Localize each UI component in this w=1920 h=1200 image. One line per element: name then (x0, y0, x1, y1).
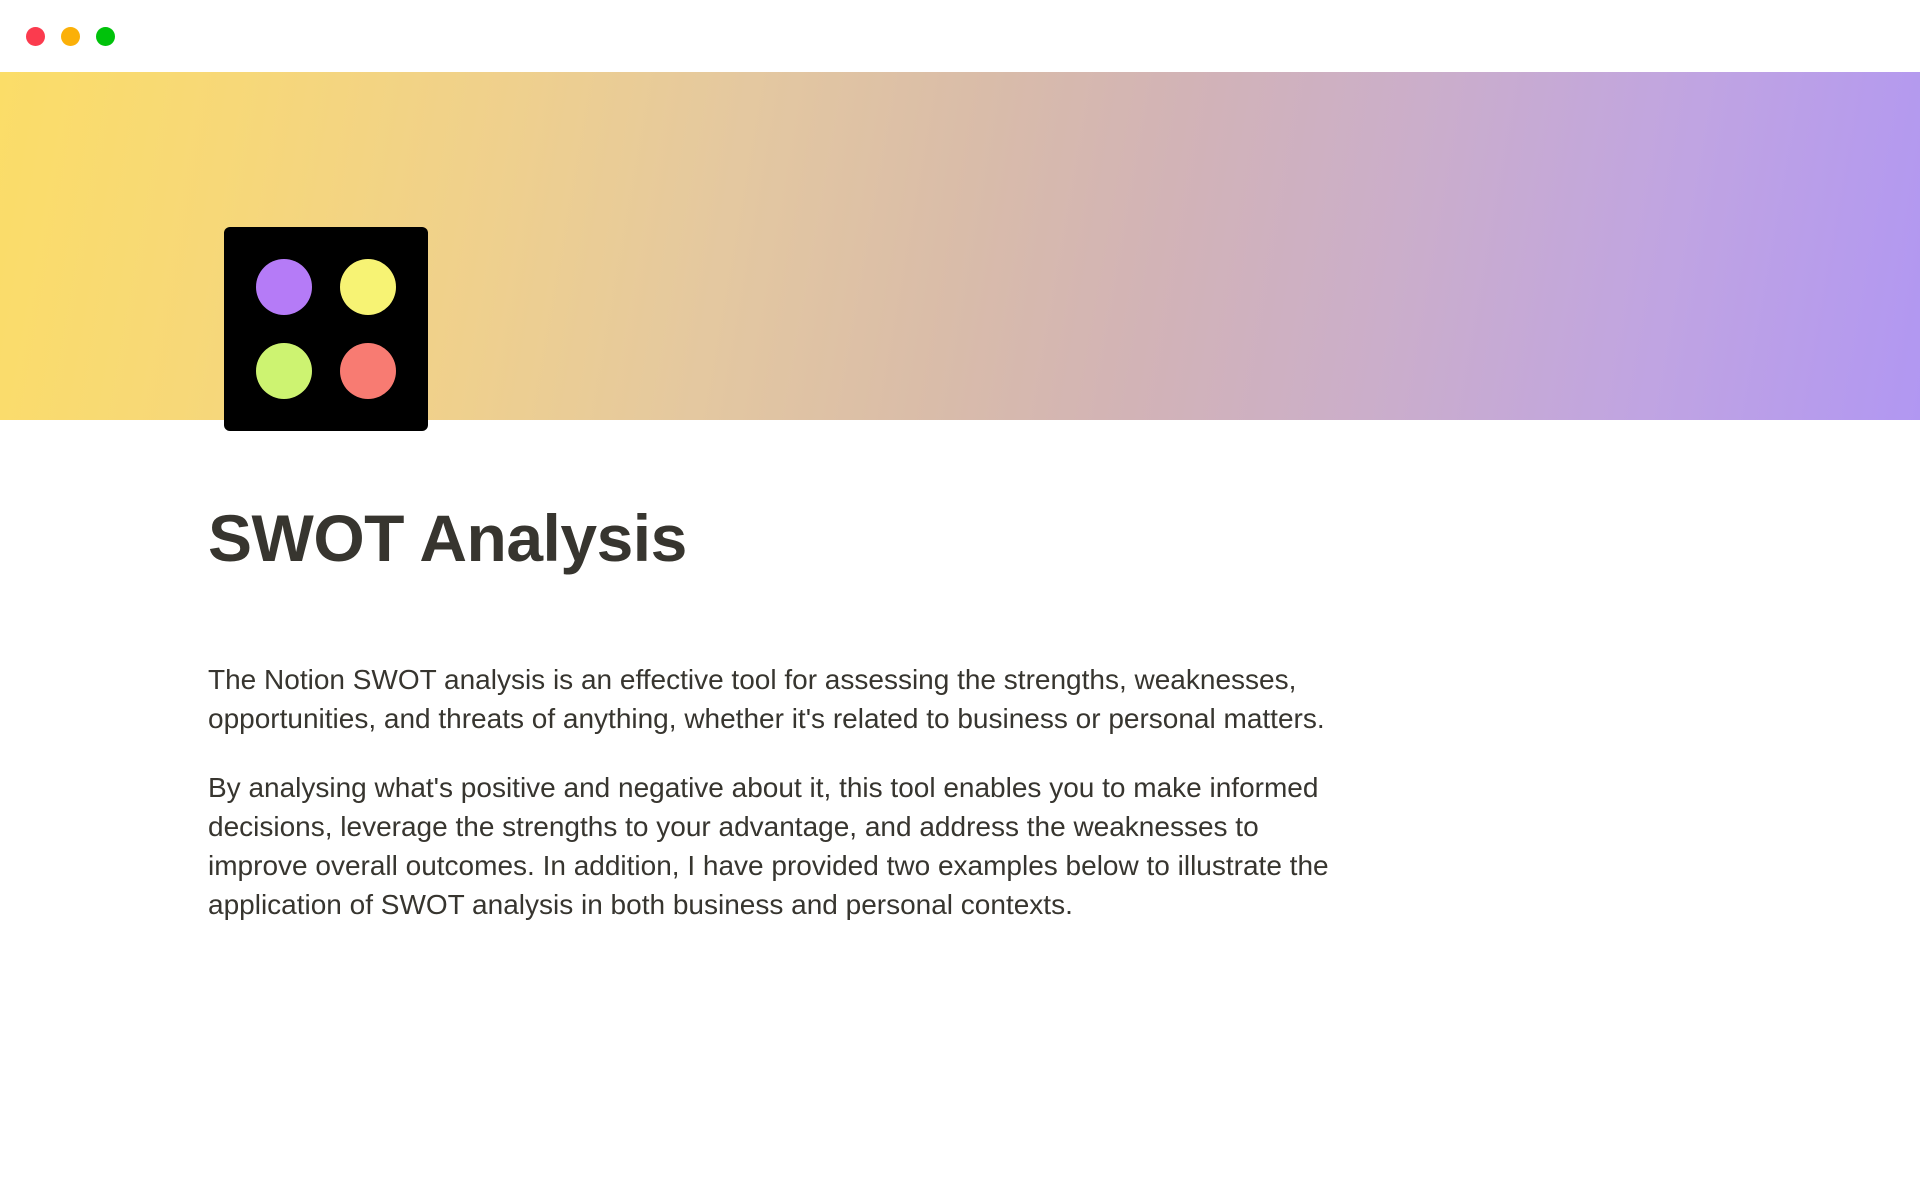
app-window: SWOT Analysis The Notion SWOT analysis i… (0, 0, 1920, 1200)
page-content: SWOT Analysis The Notion SWOT analysis i… (0, 420, 1920, 924)
page-title[interactable]: SWOT Analysis (208, 502, 1800, 576)
intro-paragraph-2[interactable]: By analysing what's positive and negativ… (208, 768, 1358, 924)
window-titlebar (0, 0, 1920, 72)
minimize-window-icon[interactable] (61, 27, 80, 46)
icon-dot-top-right (340, 259, 396, 315)
maximize-window-icon[interactable] (96, 27, 115, 46)
icon-dot-bottom-right (340, 343, 396, 399)
traffic-light-controls (26, 27, 115, 46)
icon-dot-bottom-left (256, 343, 312, 399)
icon-dot-top-left (256, 259, 312, 315)
page-icon[interactable] (224, 227, 428, 431)
close-window-icon[interactable] (26, 27, 45, 46)
intro-paragraph-1[interactable]: The Notion SWOT analysis is an effective… (208, 660, 1358, 738)
